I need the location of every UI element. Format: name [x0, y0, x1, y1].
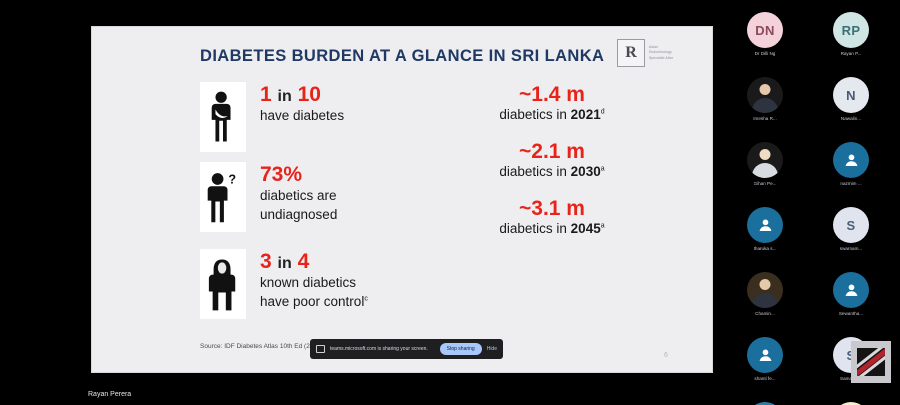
participant-name-label: nazmim ...	[840, 181, 861, 186]
stat-row: ? 73% diabetics are undiagnosed	[200, 162, 337, 232]
stat-subline-1: diabetics are	[260, 188, 337, 205]
participant-video-thumbnail	[747, 272, 783, 308]
participant-tile[interactable]: shanti fe...	[724, 337, 806, 402]
projection-value: ~3.1 m	[452, 197, 652, 220]
stat-footnote: c	[364, 295, 368, 302]
stat-headline: 1 in 10	[260, 84, 344, 106]
projection-value: ~1.4 m	[452, 83, 652, 106]
participant-name-label: Nawalin...	[841, 116, 861, 121]
slide-number: 6	[664, 352, 668, 359]
stat-connector: in	[278, 88, 292, 105]
projection-footnote: a	[601, 223, 605, 230]
participant-name-label: Rayan P...	[841, 51, 862, 56]
projection-footnote: a	[601, 166, 605, 173]
participant-tile[interactable]: DNDr Dilli Ng	[724, 12, 806, 77]
projection-year: 2030	[571, 164, 601, 179]
logo-text-lines: Asian Endocrinology Specialist Alive	[649, 46, 673, 60]
presentation-slide: DIABETES BURDEN AT A GLANCE IN SRI LANKA…	[92, 27, 712, 372]
share-message: teams.microsoft.com is sharing your scre…	[330, 346, 435, 352]
participant-tile[interactable]: tharuka s...	[724, 207, 806, 272]
projection-label: diabetics in 2021d	[452, 107, 652, 123]
participant-name-label: Sewantha...	[839, 311, 863, 316]
stat-headline: 3 in 4	[260, 251, 368, 273]
person-avatar-icon	[833, 272, 869, 308]
person-question-icon: ?	[200, 162, 246, 232]
stat-subline-2: undiagnosed	[260, 207, 337, 224]
logo-line-1: Asian	[649, 46, 673, 49]
participant-name-label: Gihan Pe...	[754, 181, 777, 186]
logo-monogram-icon: R	[617, 39, 645, 67]
projection-footnote: d	[601, 109, 605, 116]
slide-source-citation: Source: IDF Diabetes Atlas 10th Ed (2021…	[200, 343, 323, 350]
participant-initials-avatar: N	[833, 77, 869, 113]
hide-share-bar-button[interactable]: Hide	[487, 346, 497, 352]
screen-share-bar: teams.microsoft.com is sharing your scre…	[310, 339, 503, 359]
stat-connector: in	[278, 255, 292, 272]
participant-tile[interactable]: NNawalin...	[810, 77, 892, 142]
stat-subline-1: have diabetes	[260, 108, 344, 125]
participant-name-label: Imesha R...	[753, 116, 777, 121]
participant-name-label: tharuka s...	[754, 246, 777, 251]
stat-headline: 73%	[260, 164, 337, 186]
participant-tile[interactable]: Gihan Pe...	[724, 142, 806, 207]
stat-text: 3 in 4 known diabetics have poor control…	[260, 249, 368, 311]
stat-subline-2: have poor controlc	[260, 294, 368, 311]
projection-label: diabetics in 2030a	[452, 164, 652, 180]
participant-tile[interactable]: Sswarnam...	[810, 207, 892, 272]
logo-line-3: Specialist Alive	[649, 57, 673, 60]
participant-initials-avatar: DN	[747, 12, 783, 48]
person-avatar-icon	[747, 337, 783, 373]
organization-logo: R Asian Endocrinology Specialist Alive	[617, 37, 699, 69]
stat-text: 1 in 10 have diabetes	[260, 82, 344, 125]
projection-item: ~3.1 m diabetics in 2045a	[452, 197, 652, 237]
participant-tile[interactable]: nazmim ...	[810, 142, 892, 207]
projection-year: 2021	[571, 107, 601, 122]
projection-item: ~1.4 m diabetics in 2021d	[452, 83, 652, 123]
stat-text: 73% diabetics are undiagnosed	[260, 162, 337, 224]
stat-subline-1: known diabetics	[260, 275, 368, 292]
projection-year: 2045	[571, 221, 601, 236]
slide-title: DIABETES BURDEN AT A GLANCE IN SRI LANKA	[200, 47, 604, 66]
participant-tile[interactable]: Imesha R...	[724, 77, 806, 142]
self-view-thumbnail[interactable]	[851, 341, 891, 383]
stat-row: 1 in 10 have diabetes	[200, 82, 344, 152]
person-standing-icon	[200, 82, 246, 152]
participant-tile[interactable]: Sewantha...	[810, 272, 892, 337]
participant-name-label: Chamin...	[755, 311, 775, 316]
projection-item: ~2.1 m diabetics in 2030a	[452, 140, 652, 180]
screen-share-icon	[316, 345, 325, 353]
person-avatar-icon	[833, 142, 869, 178]
logo-line-2: Endocrinology	[649, 51, 673, 54]
svg-text:?: ?	[228, 173, 236, 187]
stat-number-secondary: 10	[298, 83, 321, 106]
participant-tile[interactable]: Chamin...	[724, 272, 806, 337]
participant-video-thumbnail	[747, 142, 783, 178]
stat-number-primary: 1	[260, 83, 272, 106]
participant-name-label: Dr Dilli Ng	[755, 51, 776, 56]
projection-label: diabetics in 2045a	[452, 221, 652, 237]
projection-value: ~2.1 m	[452, 140, 652, 163]
person-avatar-icon	[747, 207, 783, 243]
person-hooded-icon	[200, 249, 246, 319]
stat-number-primary: 73%	[260, 163, 302, 186]
stat-row: 3 in 4 known diabetics have poor control…	[200, 249, 368, 319]
self-view-image	[857, 348, 885, 376]
participant-name-label: shanti fe...	[754, 376, 775, 381]
shared-screen-stage: DIABETES BURDEN AT A GLANCE IN SRI LANKA…	[0, 0, 716, 405]
presenter-name-label: Rayan Perera	[88, 391, 131, 398]
participant-initials-avatar: S	[833, 207, 869, 243]
stat-number-secondary: 4	[298, 250, 310, 273]
participant-tile[interactable]: RPRayan P...	[810, 12, 892, 77]
stop-sharing-button[interactable]: Stop sharing	[440, 343, 482, 355]
participant-video-thumbnail	[747, 77, 783, 113]
participant-initials-avatar: RP	[833, 12, 869, 48]
stat-number-primary: 3	[260, 250, 272, 273]
participant-name-label: swarnam...	[840, 246, 862, 251]
